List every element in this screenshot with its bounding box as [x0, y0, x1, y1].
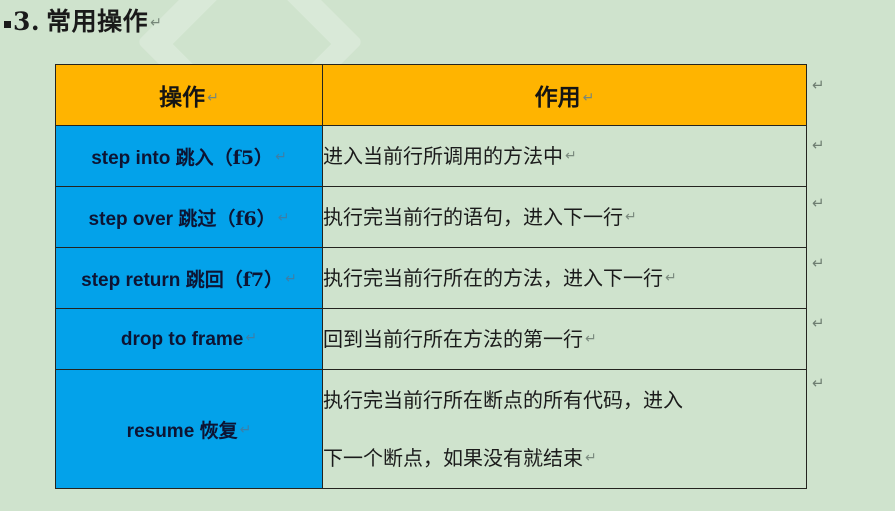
paragraph-mark-icon: ↵: [585, 331, 597, 347]
effect-line: 回到当前行所在方法的第一行: [323, 327, 583, 351]
bullet-icon: [4, 21, 11, 28]
operation-name-en: step return: [81, 270, 180, 291]
effect-line: 执行完当前行所在断点的所有代码，进入: [323, 371, 806, 429]
cell-operation: drop to frame↵: [56, 309, 323, 370]
column-header-operation: 操作↵: [56, 65, 323, 126]
operation-name-cn: 跳过（f6）: [178, 208, 275, 230]
cell-effect: 执行完当前行的语句，进入下一行↵: [323, 187, 807, 248]
column-header-operation-label: 操作: [159, 84, 205, 111]
operation-name-en: step over: [89, 209, 173, 230]
operation-name-en: step into: [91, 148, 170, 169]
paragraph-mark-icon: ↵: [285, 271, 297, 287]
operation-name-cn: 恢复: [200, 420, 238, 442]
effect-line: 执行完当前行所在的方法，进入下一行: [323, 266, 663, 290]
paragraph-mark-icon: ↵: [275, 149, 287, 165]
effect-line: 执行完当前行的语句，进入下一行: [323, 205, 623, 229]
effect-line-2: 下一个断点，如果没有就结束↵: [323, 429, 806, 487]
cell-operation: step return 跳回（f7）↵: [56, 248, 323, 309]
operation-name-cn: 跳回（f7）: [186, 269, 283, 291]
paragraph-mark-icon: ↵: [812, 316, 825, 331]
table-header-row: 操作↵ 作用↵: [56, 65, 807, 126]
paragraph-mark-icon: ↵: [585, 450, 597, 466]
table-row: step return 跳回（f7）↵ 执行完当前行所在的方法，进入下一行↵: [56, 248, 807, 309]
paragraph-mark-icon: ↵: [812, 256, 825, 271]
paragraph-mark-icon: ↵: [812, 196, 825, 211]
paragraph-mark-icon: ↵: [207, 90, 219, 106]
table-row: step over 跳过（f6）↵ 执行完当前行的语句，进入下一行↵: [56, 187, 807, 248]
column-header-effect: 作用↵: [323, 65, 807, 126]
effect-line-2-text: 下一个断点，如果没有就结束: [323, 446, 583, 470]
cell-effect: 执行完当前行所在断点的所有代码，进入 下一个断点，如果没有就结束↵: [323, 370, 807, 489]
heading-text: 常用操作: [46, 7, 148, 36]
cell-effect: 回到当前行所在方法的第一行↵: [323, 309, 807, 370]
paragraph-mark-icon: ↵: [625, 209, 637, 225]
paragraph-mark-icon: ↵: [583, 90, 595, 106]
paragraph-mark-icon: ↵: [240, 422, 252, 438]
cell-operation: step into 跳入（f5）↵: [56, 126, 323, 187]
cell-operation: resume 恢复↵: [56, 370, 323, 489]
page-title: 3.常用操作↵: [4, 2, 162, 38]
table-row: drop to frame↵ 回到当前行所在方法的第一行↵: [56, 309, 807, 370]
paragraph-mark-icon: ↵: [812, 376, 825, 391]
paragraph-mark-icon: ↵: [812, 138, 825, 153]
cell-effect: 进入当前行所调用的方法中↵: [323, 126, 807, 187]
heading-number: 3.: [13, 7, 40, 36]
effect-line: 进入当前行所调用的方法中: [323, 144, 563, 168]
table-row: step into 跳入（f5）↵ 进入当前行所调用的方法中↵: [56, 126, 807, 187]
paragraph-mark-icon: ↵: [245, 330, 257, 346]
operation-name-en: drop to frame: [121, 329, 243, 350]
paragraph-mark-icon: ↵: [278, 210, 290, 226]
operation-name-en: resume: [127, 421, 195, 442]
cell-effect: 执行完当前行所在的方法，进入下一行↵: [323, 248, 807, 309]
column-header-effect-label: 作用: [535, 84, 581, 111]
paragraph-mark-icon: ↵: [812, 78, 825, 93]
operations-table: 操作↵ 作用↵ step into 跳入（f5）↵ 进入当前行所调用的方法中↵ …: [55, 64, 807, 489]
cell-operation: step over 跳过（f6）↵: [56, 187, 323, 248]
table-row: resume 恢复↵ 执行完当前行所在断点的所有代码，进入 下一个断点，如果没有…: [56, 370, 807, 489]
paragraph-mark-icon: ↵: [150, 15, 162, 31]
operations-table-wrapper: 操作↵ 作用↵ step into 跳入（f5）↵ 进入当前行所调用的方法中↵ …: [55, 64, 806, 489]
operation-name-cn: 跳入（f5）: [176, 147, 273, 169]
paragraph-mark-icon: ↵: [665, 270, 677, 286]
paragraph-mark-icon: ↵: [565, 148, 577, 164]
